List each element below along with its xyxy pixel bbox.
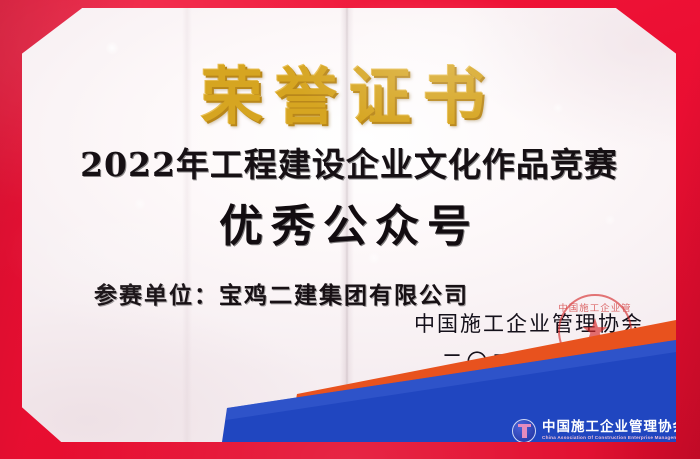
pillar-logo-icon xyxy=(512,419,536,442)
certificate-subtitle: 2022年工程建设企业文化作品竞赛 xyxy=(22,138,676,186)
association-logo: 中国施工企业管理协会 China Association Of Construc… xyxy=(512,419,676,442)
association-logo-text: 中国施工企业管理协会 China Association Of Construc… xyxy=(542,421,676,441)
certificate-photo: 荣誉证书 2022年工程建设企业文化作品竞赛 优秀公众号 参赛单位：宝鸡二建集团… xyxy=(0,0,700,459)
association-name-en: China Association Of Construction Enterp… xyxy=(542,436,676,441)
association-name-cn: 中国施工企业管理协会 xyxy=(542,421,676,435)
decorative-bands xyxy=(22,282,676,442)
certificate-sheet: 荣誉证书 2022年工程建设企业文化作品竞赛 优秀公众号 参赛单位：宝鸡二建集团… xyxy=(22,8,676,442)
certificate-title: 荣誉证书 xyxy=(22,46,676,136)
certificate-award-name: 优秀公众号 xyxy=(22,190,676,254)
